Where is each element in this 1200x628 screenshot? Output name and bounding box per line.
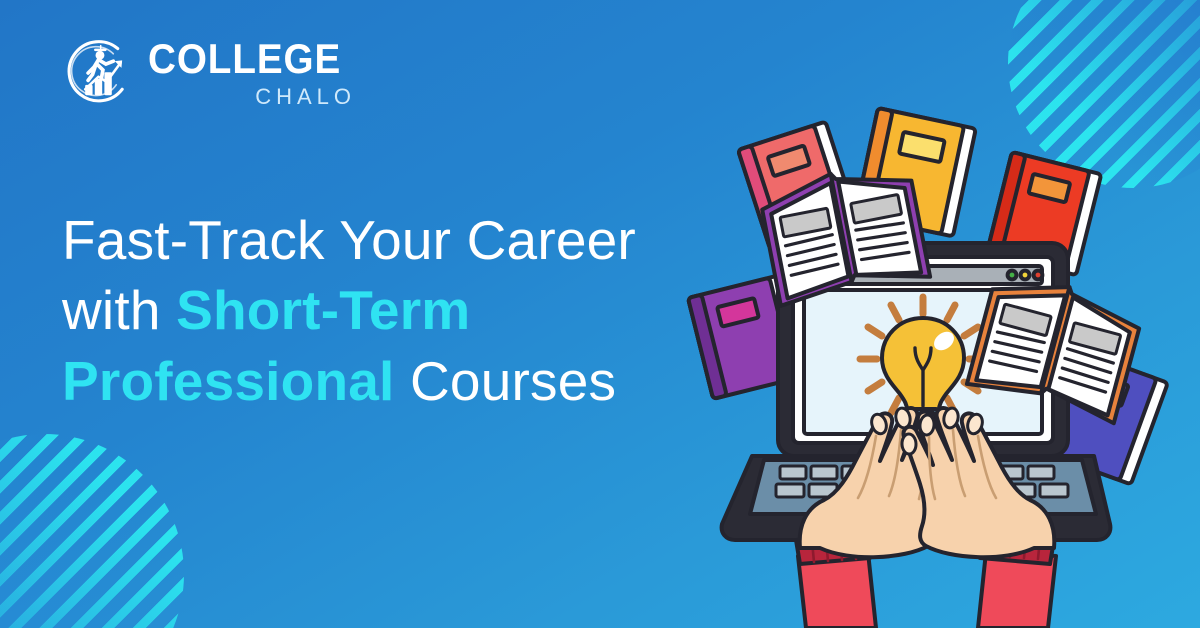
stripe-fade-overlay	[0, 434, 184, 628]
brand-name-secondary: CHALO	[255, 86, 356, 108]
headline: Fast-Track Your Career with Short-Term P…	[62, 205, 722, 416]
promo-banner: COLLEGE CHALO Fast-Track Your Career wit…	[0, 0, 1200, 628]
headline-line-1: Fast-Track Your Career	[62, 205, 722, 275]
graduate-running-bar-chart-icon	[60, 36, 134, 110]
headline-line-3-plain: Courses	[395, 350, 617, 412]
headline-line-2: with Short-Term	[62, 275, 722, 345]
brand-logo[interactable]: COLLEGE CHALO	[60, 36, 358, 110]
headline-line-2-plain: with	[62, 279, 176, 341]
striped-circle-bottom-left-icon	[0, 434, 184, 628]
brand-wordmark: COLLEGE CHALO	[148, 38, 358, 108]
laptop-with-flying-books-illustration	[680, 0, 1200, 628]
headline-line-3-highlight: Professional	[62, 350, 395, 412]
brand-name-primary: COLLEGE	[148, 38, 341, 80]
headline-line-2-highlight: Short-Term	[176, 279, 470, 341]
headline-line-3: Professional Courses	[62, 346, 722, 416]
